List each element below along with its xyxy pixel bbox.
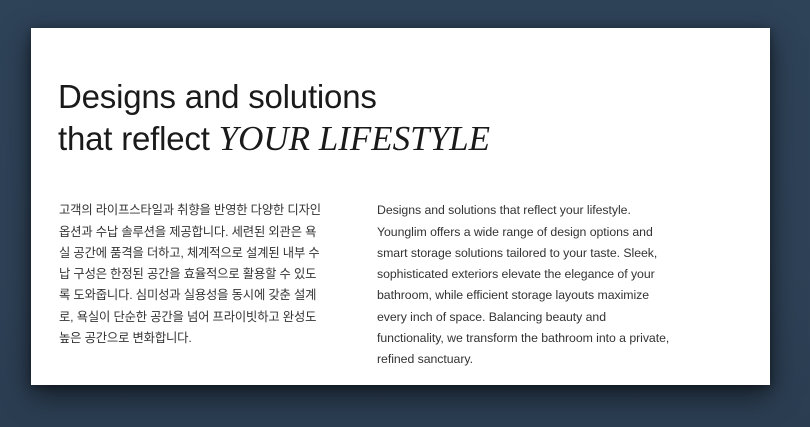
- page-title: Designs and solutions that reflect YOUR …: [58, 76, 490, 160]
- page-title-accent: YOUR LIFESTYLE: [219, 119, 490, 158]
- page-title-line-2-prefix: that reflect: [58, 120, 219, 157]
- page-title-line-1: Designs and solutions: [58, 76, 490, 118]
- body-columns: 고객의 라이프스타일과 취향을 반영한 다양한 디자인 옵션과 수납 솔루션을 …: [59, 188, 746, 383]
- page-title-line-2: that reflect YOUR LIFESTYLE: [58, 118, 490, 160]
- body-paragraph-korean: 고객의 라이프스타일과 취향을 반영한 다양한 디자인 옵션과 수납 솔루션을 …: [59, 200, 321, 370]
- slide-card: Designs and solutions that reflect YOUR …: [31, 28, 770, 385]
- slide-card-content: Designs and solutions that reflect YOUR …: [58, 28, 746, 385]
- body-paragraph-english: Designs and solutions that reflect your …: [377, 200, 673, 370]
